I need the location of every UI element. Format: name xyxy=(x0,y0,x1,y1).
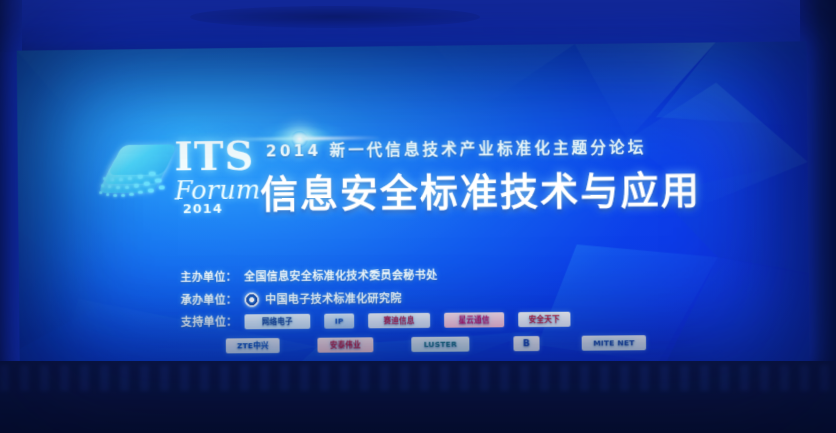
sponsor-logo-1: 网络电子 xyxy=(244,313,310,328)
conference-photo: ITS Forum 2014 2014 新一代信息技术产业标准化主题分论坛 信息… xyxy=(0,0,836,433)
host-label: 主办单位： xyxy=(180,269,237,285)
sponsor-logo-9: B xyxy=(513,336,539,351)
audience-silhouette xyxy=(0,365,836,391)
sponsor-logo-3: 赛迪信息 xyxy=(368,312,430,327)
sponsor-logo-8: LUSTER xyxy=(411,337,469,352)
host-value: 全国信息安全标准化技术委员会秘书处 xyxy=(244,267,438,285)
organizer-label: 承办单位： xyxy=(181,291,238,307)
supporters-row-1: 支持单位： 网络电子 IP 赛迪信息 星云通信 安全天下 xyxy=(181,311,585,330)
organizer-value: 中国电子技术标准化研究院 xyxy=(265,290,402,307)
sponsor-logo-7: 安泰伟业 xyxy=(317,337,373,352)
supporters-label: 支持单位： xyxy=(181,313,238,329)
subtitle-text: 2014 新一代信息技术产业标准化主题分论坛 xyxy=(266,136,647,162)
main-title: 信息安全标准技术与应用 xyxy=(260,159,701,218)
sponsor-logo-6: ZTE中兴 xyxy=(226,338,280,353)
its-forum-logo: ITS Forum 2014 xyxy=(99,138,259,225)
halftone-dots-icon xyxy=(97,168,175,203)
host-row: 主办单位： 全国信息安全标准化技术委员会秘书处 xyxy=(180,267,437,285)
stage-foreground xyxy=(0,361,836,433)
logo-its-text: ITS xyxy=(174,138,254,177)
eye-logo-icon xyxy=(244,292,259,307)
sponsor-logo-10: MITE NET xyxy=(582,335,646,351)
sponsor-logo-5: 安全天下 xyxy=(518,311,570,326)
organizer-row: 承办单位： 中国电子技术标准化研究院 xyxy=(181,290,402,308)
sponsor-logo-4: 星云通信 xyxy=(444,312,504,327)
screen-surface: ITS Forum 2014 2014 新一代信息技术产业标准化主题分论坛 信息… xyxy=(17,41,810,367)
logo-year-text: 2014 xyxy=(183,202,223,217)
led-screen: ITS Forum 2014 2014 新一代信息技术产业标准化主题分论坛 信息… xyxy=(17,41,810,367)
sponsor-logo-2: IP xyxy=(324,313,354,328)
